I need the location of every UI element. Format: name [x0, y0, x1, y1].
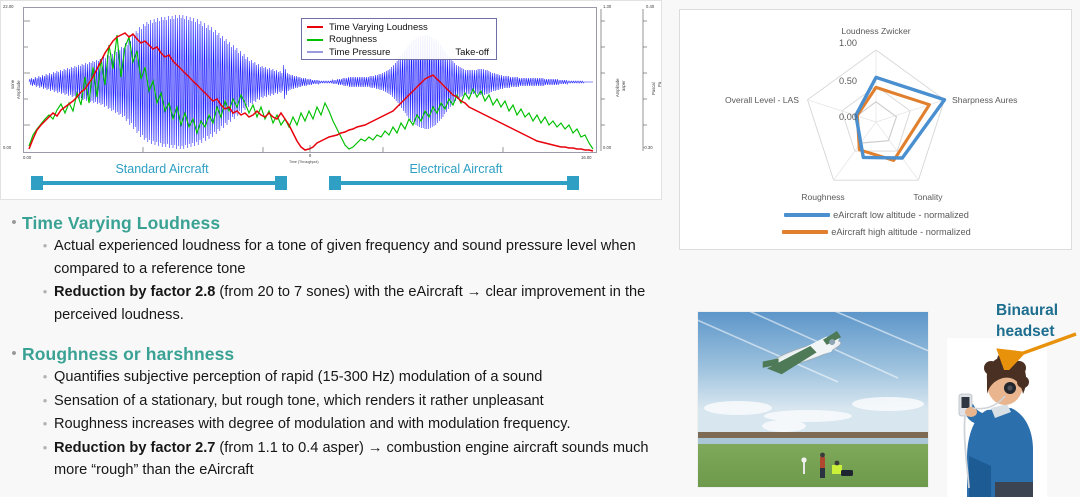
x-axis-mid-label: 8 [309, 153, 311, 158]
callout-arrow-icon [990, 330, 1080, 370]
radar-axis-label-sharpness: Sharpness Aures [952, 95, 1017, 105]
radar-legend-item-low: eAircraft low altitude - normalized [680, 206, 1073, 223]
aircraft-flyover-illustration [698, 312, 928, 487]
callout-line-1: Binaural [996, 300, 1080, 321]
legend-swatch-roughness [307, 39, 323, 41]
list-item: • Actual experienced loudness for a tone… [6, 235, 674, 280]
x-axis-start-label: 0.00 [23, 155, 31, 160]
legend-item-pressure: Time Pressure Take-off [307, 46, 491, 59]
radar-axis-label-roughness: Roughness [801, 192, 844, 202]
heading-text-roughness: Roughness or harshness [22, 343, 234, 365]
bullet-dot-icon: • [36, 390, 54, 412]
y-axis-bottom-label: 0.00 [3, 145, 11, 150]
bullet-bold-prefix: Reduction by factor 2.7 [54, 440, 215, 456]
radar-series-low-altitude [856, 77, 945, 158]
list-item: • Reduction by factor 2.8 (from 20 to 7 … [6, 281, 674, 326]
radar-axis-label-loudness: Loudness Zwicker [841, 26, 910, 36]
section-heading-time-varying-loudness: • Time Varying Loudness [6, 212, 674, 234]
band-label-electrical-text: Electrical Aircraft [409, 162, 502, 176]
radar-axis-label-overall: Overall Level - LAS [725, 95, 799, 105]
bullet-dot-icon: • [6, 212, 22, 234]
radar-axis-label-tonality: Tonality [913, 192, 943, 202]
y-axis-top-label: 22.00 [3, 4, 13, 9]
aircraft-flyover-photo [697, 311, 929, 488]
radar-tick-0: 0.00 [839, 112, 857, 122]
bullet-dot-icon: • [6, 343, 22, 365]
x-axis-title: Time (Throughput) [289, 160, 319, 164]
list-item: • Sensation of a stationary, but rough t… [6, 390, 674, 413]
radar-tick-050: 0.50 [839, 76, 857, 86]
radar-legend-item-high: eAircraft high altitude - normalized [680, 223, 1073, 240]
legend-swatch-pressure [307, 51, 323, 53]
radar-legend-swatch-low [784, 213, 830, 217]
radar-legend-swatch-high [782, 230, 828, 234]
band-label-standard-text: Standard Aircraft [115, 162, 208, 176]
y-axis-unit-sone: sone [10, 80, 15, 89]
bullet-text: Roughness increases with degree of modul… [54, 413, 571, 436]
legend-item-roughness: Roughness [307, 34, 491, 47]
x-axis-end-label: 16.00 [581, 155, 591, 160]
timeseries-legend: Time Varying Loudness Roughness Time Pre… [301, 18, 497, 60]
bullet-bold-prefix: Reduction by factor 2.8 [54, 284, 215, 300]
radar-legend-label-low: eAircraft low altitude - normalized [833, 210, 969, 220]
list-item: • Roughness increases with degree of mod… [6, 413, 674, 436]
radar-chart-card: 1.00 0.50 0.00 Loudness Zwicker Sharpnes… [679, 9, 1072, 250]
bullet-dot-icon: • [36, 413, 54, 435]
timeseries-chart-card: 22.00 0.00 sone Amplitude 0.00 8 Time (T… [0, 0, 662, 200]
bullet-dot-icon: • [36, 366, 54, 388]
legend-label-roughness: Roughness [329, 35, 377, 45]
list-item: • Reduction by factor 2.7 (from 1.1 to 0… [6, 437, 674, 482]
legend-item-loudness: Time Varying Loudness [307, 21, 491, 34]
heading-text-loudness: Time Varying Loudness [22, 212, 220, 234]
bullet-text: Actual experienced loudness for a tone o… [54, 235, 672, 280]
double-arrow-standard [31, 176, 287, 190]
right-axis-ticks [599, 7, 659, 153]
bullet-text: Sensation of a stationary, but rough ton… [54, 390, 544, 413]
takeoff-annotation: Take-off [455, 47, 491, 58]
radar-tick-1: 1.00 [839, 38, 857, 48]
bullet-content: • Time Varying Loudness • Actual experie… [6, 204, 674, 482]
legend-label-loudness: Time Varying Loudness [329, 23, 428, 33]
radar-chart-svg: 1.00 0.50 0.00 Loudness Zwicker Sharpnes… [680, 10, 1073, 210]
slide-root: 22.00 0.00 sone Amplitude 0.00 8 Time (T… [0, 0, 1080, 497]
section-heading-roughness: • Roughness or harshness [6, 343, 674, 365]
bullet-dot-icon: • [36, 437, 54, 459]
radar-legend-label-high: eAircraft high altitude - normalized [831, 227, 970, 237]
bullet-text: Reduction by factor 2.8 (from 20 to 7 so… [54, 281, 672, 326]
bullet-dot-icon: • [36, 281, 54, 303]
bullet-dot-icon: • [36, 235, 54, 257]
double-arrow-electrical [329, 176, 579, 190]
bullet-text: Quantifies subjective perception of rapi… [54, 366, 542, 389]
list-item: • Quantifies subjective perception of ra… [6, 366, 674, 389]
bullet-text: Reduction by factor 2.7 (from 1.1 to 0.4… [54, 437, 672, 482]
y-axis-unit-amplitude: Amplitude [16, 80, 21, 99]
legend-label-pressure: Time Pressure [329, 48, 390, 58]
radar-legend: eAircraft low altitude - normalized eAir… [680, 206, 1073, 240]
legend-swatch-loudness [307, 26, 323, 28]
